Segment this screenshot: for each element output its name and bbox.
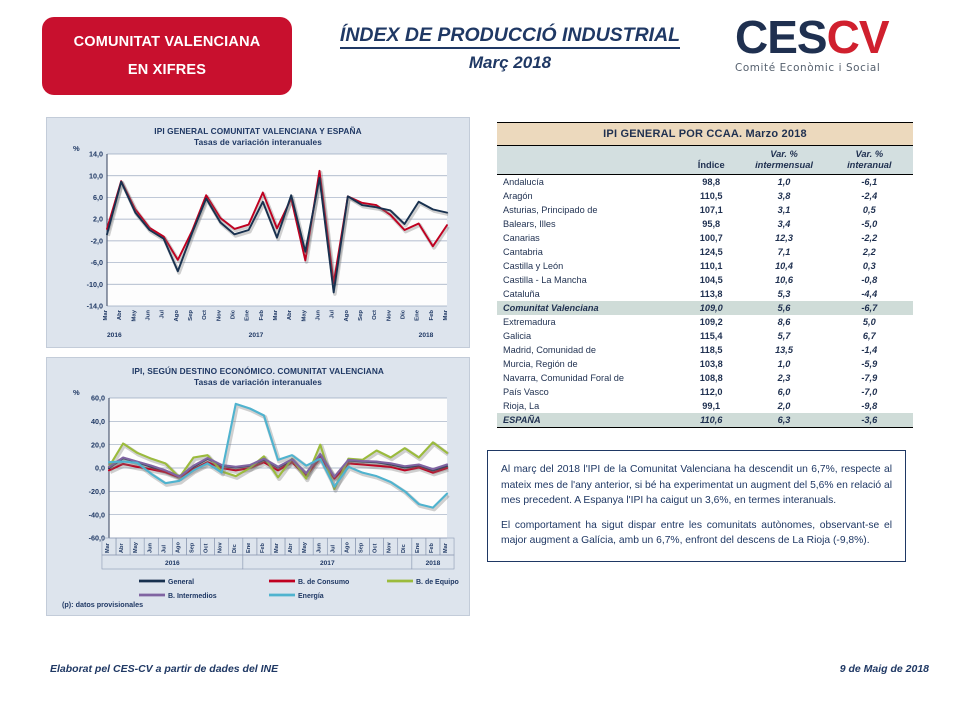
legend-label: Energía [298, 593, 324, 600]
cell-interanual: -2,4 [826, 189, 913, 203]
x-axis-tick-label: Jul [330, 310, 336, 319]
cell-region: Cataluña [497, 287, 680, 301]
x-axis-tick-label: Jul [161, 544, 167, 553]
col-header-interanual: Var. % interanual [826, 146, 913, 175]
footer-date: 9 de Maig de 2018 [840, 663, 929, 675]
x-axis-tick-label: Abr [117, 309, 123, 320]
cell-indice: 98,8 [680, 175, 742, 190]
cell-indice: 109,0 [680, 301, 742, 315]
col-header-interanual-l1: Var. % [856, 149, 884, 159]
cell-region: Comunitat Valenciana [497, 301, 680, 315]
x-axis-tick-label: Nov [218, 542, 224, 553]
x-axis-tick-label: Ene [245, 309, 251, 321]
cell-interanual: -6,7 [826, 301, 913, 315]
ipi-ccaa-table-wrapper: IPI GENERAL POR CCAA. Marzo 2018 Índice … [497, 122, 913, 428]
cell-region: Balears, Illes [497, 217, 680, 231]
col-header-interanual-l2: interanual [847, 160, 891, 170]
cell-interanual: 0,3 [826, 259, 913, 273]
x-axis-tick-label: Mar [105, 542, 111, 553]
x-axis-tick-label: Ago [344, 310, 350, 322]
cell-indice: 118,5 [680, 343, 742, 357]
cell-region: Castilla - La Mancha [497, 273, 680, 287]
x-axis-tick-label: Jun [316, 310, 322, 321]
x-axis-tick-label: Oct [372, 310, 378, 320]
table-row: Andalucía98,81,0-6,1 [497, 175, 913, 190]
x-axis-tick-label: Feb [429, 310, 435, 321]
y-axis-tick-label: 0,0 [95, 464, 105, 473]
table-row: ESPAÑA110,66,3-3,6 [497, 413, 913, 428]
table-row: Aragón110,53,8-2,4 [497, 189, 913, 203]
cell-interanual: 5,0 [826, 315, 913, 329]
table-head: Índice Var. % intermensual Var. % intera… [497, 146, 913, 175]
cescv-logo: CESCV Comité Econòmic i Social [735, 14, 925, 92]
cell-interanual: 2,2 [826, 245, 913, 259]
cell-interanual: -1,4 [826, 343, 913, 357]
cell-intermensual: 1,0 [742, 357, 825, 371]
x-axis-tick-label: Sep [359, 542, 365, 553]
cell-intermensual: 12,3 [742, 231, 825, 245]
ipi-ccaa-table: Índice Var. % intermensual Var. % intera… [497, 146, 913, 428]
cell-interanual: -4,4 [826, 287, 913, 301]
cell-region: Castilla y León [497, 259, 680, 273]
cell-indice: 112,0 [680, 385, 742, 399]
x-axis-tick-label: Jul [330, 544, 336, 553]
x-axis-tick-label: Ene [246, 543, 252, 553]
x-axis-tick-label: Abr [287, 309, 293, 320]
x-axis-tick-label: Oct [202, 310, 208, 320]
cell-indice: 110,1 [680, 259, 742, 273]
cell-intermensual: 1,0 [742, 175, 825, 190]
cell-region: Navarra, Comunidad Foral de [497, 371, 680, 385]
cell-region: Andalucía [497, 175, 680, 190]
x-axis-tick-label: May [301, 309, 307, 321]
table-row: Extremadura109,28,65,0 [497, 315, 913, 329]
chart2-provisional-note: (p): datos provisionales [62, 600, 143, 609]
cell-indice: 107,1 [680, 203, 742, 217]
cell-intermensual: 8,6 [742, 315, 825, 329]
cell-indice: 108,8 [680, 371, 742, 385]
title-block: ÍNDEX DE PRODUCCIÓ INDUSTRIAL Març 2018 [300, 24, 720, 73]
badge-line-2: EN XIFRES [128, 62, 206, 78]
x-axis-tick-label: Mar [274, 542, 280, 553]
chart1-plot: 14,010,06,02,0-2,0-6,0-10,0-14,0MarAbrMa… [47, 118, 471, 349]
page-title: ÍNDEX DE PRODUCCIÓ INDUSTRIAL [340, 24, 680, 49]
x-axis-tick-label: Sep [358, 310, 364, 321]
col-header-indice: Índice [680, 146, 742, 175]
table-row: Rioja, La99,12,0-9,8 [497, 399, 913, 413]
cell-interanual: -2,2 [826, 231, 913, 245]
cell-region: Cantabria [497, 245, 680, 259]
cell-intermensual: 2,0 [742, 399, 825, 413]
x-axis-tick-label: Jul [160, 310, 166, 319]
cell-interanual: -9,8 [826, 399, 913, 413]
logo-wordmark: CESCV [735, 14, 925, 60]
cell-region: Rioja, La [497, 399, 680, 413]
table-row: Madrid, Comunidad de118,513,5-1,4 [497, 343, 913, 357]
table-row: Navarra, Comunidad Foral de108,82,3-7,9 [497, 371, 913, 385]
y-axis-tick-label: 14,0 [89, 150, 103, 159]
cell-interanual: -3,6 [826, 413, 913, 428]
x-axis-tick-label: Mar [103, 309, 109, 320]
cell-region: Extremadura [497, 315, 680, 329]
cell-intermensual: 6,0 [742, 385, 825, 399]
cell-indice: 100,7 [680, 231, 742, 245]
y-axis-tick-label: -6,0 [91, 258, 103, 267]
x-axis-tick-label: Dic [401, 544, 407, 553]
cell-indice: 103,8 [680, 357, 742, 371]
cell-interanual: -0,8 [826, 273, 913, 287]
cell-region: Murcia, Región de [497, 357, 680, 371]
legend-label: B. Intermedios [168, 593, 217, 600]
x-axis-tick-label: Mar [443, 309, 449, 320]
cell-indice: 99,1 [680, 399, 742, 413]
cell-interanual: -7,9 [826, 371, 913, 385]
cell-region: Aragón [497, 189, 680, 203]
y-axis-tick-label: 40,0 [91, 417, 105, 426]
chart-ipi-destino-panel: IPI, SEGÚN DESTINO ECONÓMICO. COMUNITAT … [46, 357, 470, 616]
legend-label: B. de Consumo [298, 579, 349, 586]
x-axis-tick-label: Dic [231, 309, 237, 319]
cell-intermensual: 7,1 [742, 245, 825, 259]
x-axis-year-label: 2017 [320, 560, 335, 567]
x-axis-tick-label: Dic [401, 309, 407, 319]
col-header-intermensual-l2: intermensual [755, 160, 813, 170]
table-row: Castilla y León110,110,40,3 [497, 259, 913, 273]
x-axis-tick-label: Jun [146, 310, 152, 321]
col-header-intermensual: Var. % intermensual [742, 146, 825, 175]
cell-intermensual: 5,6 [742, 301, 825, 315]
y-axis-tick-label: 60,0 [91, 394, 105, 403]
x-axis-year-label: 2018 [419, 332, 434, 339]
cell-region: Asturias, Principado de [497, 203, 680, 217]
cell-interanual: -5,9 [826, 357, 913, 371]
x-axis-tick-label: Mar [443, 542, 449, 553]
x-axis-tick-label: Ene [415, 309, 421, 321]
x-axis-tick-label: Jun [147, 542, 153, 553]
cell-indice: 104,5 [680, 273, 742, 287]
y-axis-tick-label: -10,0 [87, 280, 103, 289]
x-axis-tick-label: Oct [204, 544, 210, 553]
cell-region: Galicia [497, 329, 680, 343]
x-axis-tick-label: Feb [260, 542, 266, 553]
cell-indice: 113,8 [680, 287, 742, 301]
x-axis-tick-label: May [302, 541, 308, 553]
table-caption: IPI GENERAL POR CCAA. Marzo 2018 [497, 122, 913, 146]
cell-intermensual: 3,4 [742, 217, 825, 231]
table-row: Murcia, Región de103,81,0-5,9 [497, 357, 913, 371]
page-subtitle: Març 2018 [300, 53, 720, 73]
x-axis-year-label: 2017 [249, 332, 264, 339]
chart2-plot: 60,040,020,00,0-20,0-40,0-60,0MarAbrMayJ… [47, 358, 471, 617]
cell-intermensual: 13,5 [742, 343, 825, 357]
x-axis-tick-label: Oct [373, 544, 379, 553]
comunitat-valenciana-badge: COMUNITAT VALENCIANA EN XIFRES [42, 17, 292, 95]
cell-intermensual: 2,3 [742, 371, 825, 385]
x-axis-tick-label: Ago [174, 310, 180, 322]
x-axis-tick-label: May [131, 309, 137, 321]
note-paragraph-1: Al març del 2018 l'IPI de la Comunitat V… [501, 462, 892, 509]
x-axis-tick-label: Dic [232, 544, 238, 553]
x-axis-year-label: 2016 [165, 560, 180, 567]
cell-intermensual: 10,6 [742, 273, 825, 287]
table-header-row: Índice Var. % intermensual Var. % intera… [497, 146, 913, 175]
cell-region: Canarias [497, 231, 680, 245]
chart-ipi-general-panel: IPI GENERAL COMUNITAT VALENCIANA Y ESPAÑ… [46, 117, 470, 348]
cell-intermensual: 10,4 [742, 259, 825, 273]
table-row: Comunitat Valenciana109,05,6-6,7 [497, 301, 913, 315]
x-axis-year-label: 2018 [426, 560, 441, 567]
cell-region: ESPAÑA [497, 413, 680, 428]
cell-interanual: -7,0 [826, 385, 913, 399]
x-axis-tick-label: Ago [344, 542, 350, 553]
x-axis-tick-label: Ago [175, 542, 181, 553]
table-row: Balears, Illes95,83,4-5,0 [497, 217, 913, 231]
x-axis-tick-label: Abr [288, 543, 294, 553]
cell-intermensual: 6,3 [742, 413, 825, 428]
cell-indice: 124,5 [680, 245, 742, 259]
cell-interanual: 0,5 [826, 203, 913, 217]
y-axis-tick-label: -20,0 [89, 487, 105, 496]
logo-ces-text: CES [735, 11, 827, 63]
y-axis-tick-label: -14,0 [87, 302, 103, 311]
x-axis-tick-label: Feb [429, 542, 435, 553]
x-axis-tick-label: Nov [216, 309, 222, 321]
x-axis-tick-label: Nov [387, 542, 393, 553]
x-axis-tick-label: Mar [273, 309, 279, 320]
footer-source: Elaborat pel CES-CV a partir de dades de… [50, 663, 278, 675]
cell-intermensual: 3,8 [742, 189, 825, 203]
cell-indice: 115,4 [680, 329, 742, 343]
table-row: Asturias, Principado de107,13,10,5 [497, 203, 913, 217]
table-row: Canarias100,712,3-2,2 [497, 231, 913, 245]
badge-line-1: COMUNITAT VALENCIANA [74, 34, 261, 50]
x-axis-year-label: 2016 [107, 332, 122, 339]
cell-indice: 110,6 [680, 413, 742, 428]
legend-label: B. de Equipo [416, 579, 459, 586]
x-axis-tick-label: Feb [259, 310, 265, 321]
legend-label: General [168, 579, 194, 586]
x-axis-tick-label: Ene [415, 543, 421, 553]
cell-intermensual: 5,3 [742, 287, 825, 301]
y-axis-tick-label: 2,0 [93, 215, 103, 224]
table-body: Andalucía98,81,0-6,1Aragón110,53,8-2,4As… [497, 175, 913, 428]
cell-region: Madrid, Comunidad de [497, 343, 680, 357]
col-header-region [497, 146, 680, 175]
y-axis-tick-label: -40,0 [89, 510, 105, 519]
note-paragraph-2: El comportament ha sigut dispar entre le… [501, 518, 892, 549]
cell-intermensual: 5,7 [742, 329, 825, 343]
col-header-intermensual-l1: Var. % [770, 149, 798, 159]
cell-interanual: 6,7 [826, 329, 913, 343]
x-axis-tick-label: Nov [386, 309, 392, 321]
logo-tagline: Comité Econòmic i Social [735, 62, 925, 74]
table-row: País Vasco112,06,0-7,0 [497, 385, 913, 399]
y-axis-tick-label: -2,0 [91, 236, 103, 245]
y-axis-tick-label: 6,0 [93, 193, 103, 202]
x-axis-tick-label: May [133, 541, 139, 553]
x-axis-tick-label: Sep [188, 310, 194, 321]
cell-indice: 95,8 [680, 217, 742, 231]
cell-interanual: -6,1 [826, 175, 913, 190]
cell-intermensual: 3,1 [742, 203, 825, 217]
table-row: Galicia115,45,76,7 [497, 329, 913, 343]
x-axis-tick-label: Sep [190, 542, 196, 553]
x-axis-tick-label: Jun [316, 542, 322, 553]
cell-interanual: -5,0 [826, 217, 913, 231]
cell-indice: 109,2 [680, 315, 742, 329]
table-row: Castilla - La Mancha104,510,6-0,8 [497, 273, 913, 287]
table-row: Cataluña113,85,3-4,4 [497, 287, 913, 301]
cell-region: País Vasco [497, 385, 680, 399]
table-row: Cantabria124,57,12,2 [497, 245, 913, 259]
y-axis-tick-label: 10,0 [89, 171, 103, 180]
y-axis-tick-label: 20,0 [91, 440, 105, 449]
logo-cv-text: CV [827, 11, 889, 63]
x-axis-tick-label: Abr [119, 543, 125, 553]
cell-indice: 110,5 [680, 189, 742, 203]
summary-note-box: Al març del 2018 l'IPI de la Comunitat V… [487, 450, 906, 562]
